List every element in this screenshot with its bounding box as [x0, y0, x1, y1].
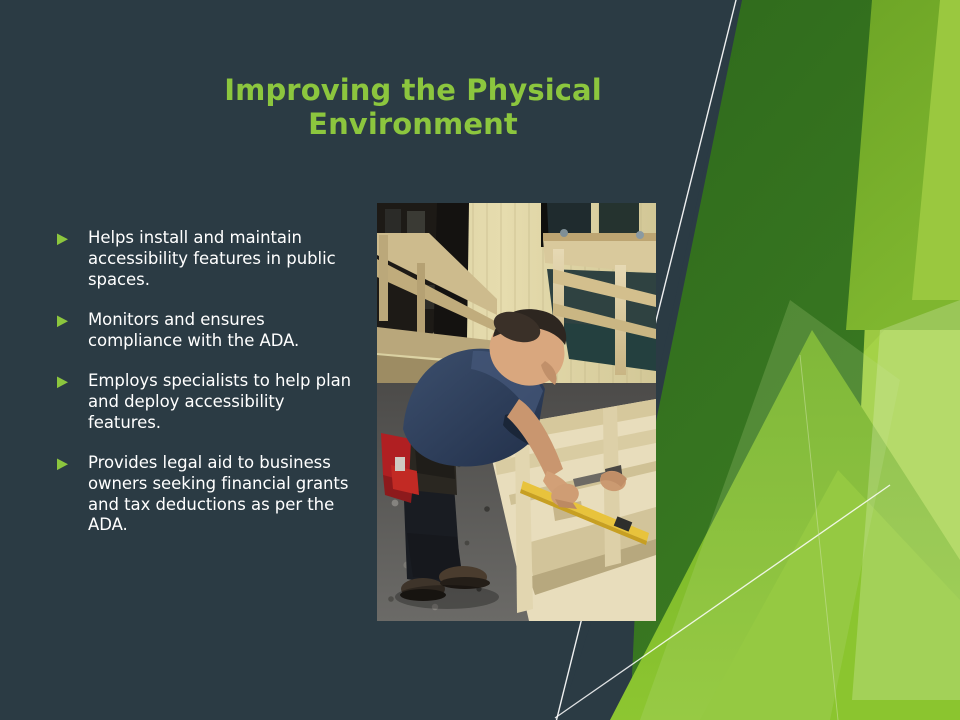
facet-shape-mid-top — [846, 0, 960, 330]
facet-shape-overlay-olive — [640, 300, 900, 720]
triangle-right-icon — [56, 371, 88, 389]
slide-photo — [377, 203, 656, 621]
photo-illustration — [377, 203, 656, 621]
accent-line-thin-vertical — [800, 355, 838, 720]
facet-shape-light-right — [790, 0, 960, 720]
list-item: Monitors and ensures compliance with the… — [56, 310, 356, 352]
list-item-text: Employs specialists to help plan and dep… — [88, 371, 356, 434]
presentation-slide: Improving the Physical Environment Helps… — [0, 0, 960, 720]
facet-shape-bright-lower-right — [640, 250, 960, 720]
list-item: Provides legal aid to business owners se… — [56, 453, 356, 537]
facet-shape-bright-center-lower — [700, 470, 960, 720]
facet-shape-light-top-corner — [912, 0, 960, 300]
bullet-list: Helps install and maintain accessibility… — [56, 228, 356, 555]
slide-title: Improving the Physical Environment — [120, 74, 706, 141]
list-item: Helps install and maintain accessibility… — [56, 228, 356, 291]
triangle-right-icon — [56, 453, 88, 471]
list-item-text: Provides legal aid to business owners se… — [88, 453, 356, 537]
facet-shape-overlay-light — [852, 300, 960, 700]
list-item: Employs specialists to help plan and dep… — [56, 371, 356, 434]
list-item-text: Monitors and ensures compliance with the… — [88, 310, 356, 352]
list-item-text: Helps install and maintain accessibility… — [88, 228, 356, 291]
facet-shape-green-lower-left — [610, 330, 960, 720]
triangle-right-icon — [56, 228, 88, 246]
triangle-right-icon — [56, 310, 88, 328]
